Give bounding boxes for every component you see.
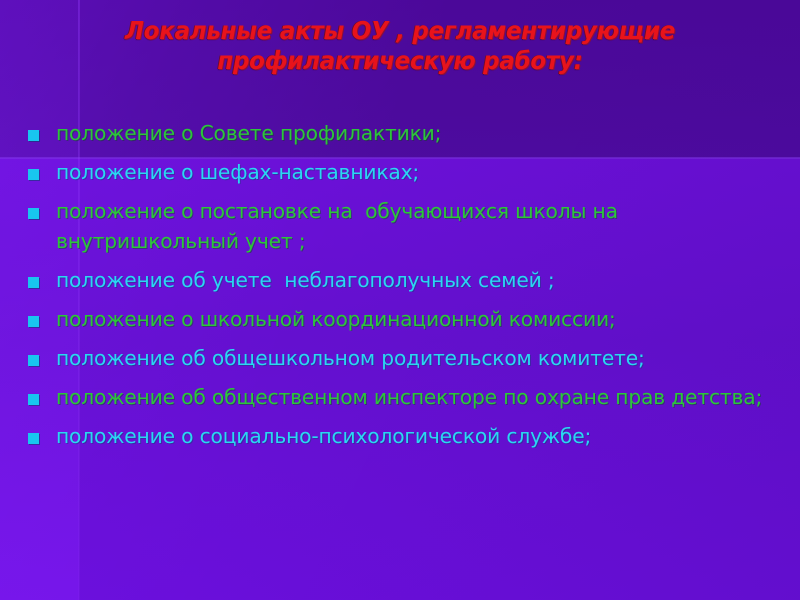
square-bullet-icon [28, 316, 39, 327]
bullet-list: положение о Совете профилактики;положени… [0, 118, 800, 460]
square-bullet-icon [28, 130, 39, 141]
list-item-label: положение о школьной координационной ком… [56, 304, 789, 334]
square-bullet-icon [28, 394, 39, 405]
presentation-slide: Локальные акты ОУ , регламентирующие про… [0, 0, 800, 600]
list-item-label: положение об учете неблагополучных семей… [56, 265, 789, 295]
square-bullet-icon [28, 169, 39, 180]
list-item: положение о постановке на обучающихся шк… [0, 196, 800, 256]
square-bullet-icon [28, 277, 39, 288]
square-bullet-icon [28, 433, 39, 444]
list-item: положение о Совете профилактики; [0, 118, 800, 148]
list-item: положение об общешкольном родительском к… [0, 343, 800, 373]
square-bullet-icon [28, 355, 39, 366]
list-item: положение об учете неблагополучных семей… [0, 265, 800, 295]
list-item-label: положение о постановке на обучающихся шк… [56, 196, 789, 256]
list-item-label: положение об общешкольном родительском к… [56, 343, 789, 373]
list-item: положение о социально-психологической сл… [0, 421, 800, 451]
list-item-label: положение об общественном инспекторе по … [56, 382, 789, 412]
slide-title: Локальные акты ОУ , регламентирующие про… [87, 16, 713, 76]
list-item: положение о шефах-наставниках; [0, 157, 800, 187]
list-item-label: положение о шефах-наставниках; [56, 157, 789, 187]
list-item: положение об общественном инспекторе по … [0, 382, 800, 412]
list-item-label: положение о социально-психологической сл… [56, 421, 789, 451]
list-item: положение о школьной координационной ком… [0, 304, 800, 334]
list-item-label: положение о Совете профилактики; [56, 118, 789, 148]
square-bullet-icon [28, 208, 39, 219]
